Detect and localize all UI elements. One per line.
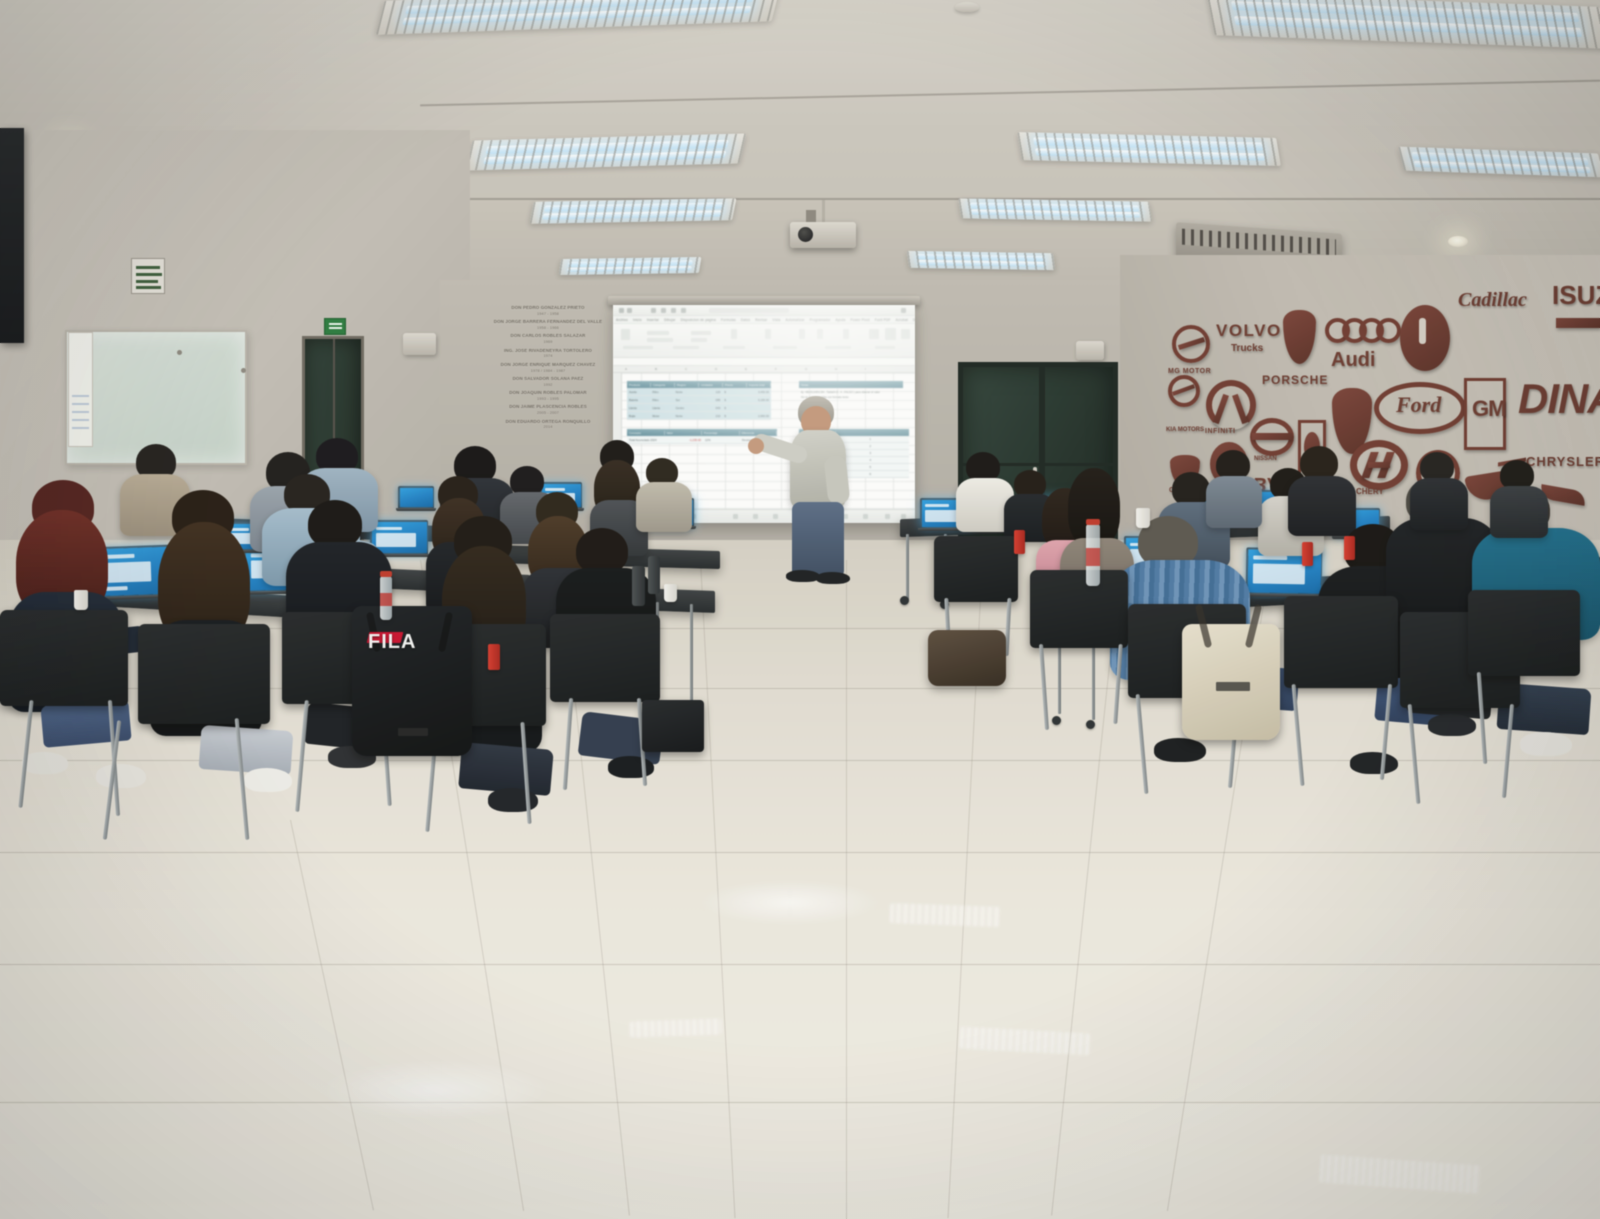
spreadsheet-titlebar — [613, 305, 915, 316]
bottle-cap — [1086, 519, 1100, 525]
cup — [664, 584, 677, 602]
logo-isuzu-bar — [1556, 318, 1600, 328]
column-header[interactable]: I — [865, 366, 866, 373]
table-cell-valor: -1,235.00 — [664, 438, 703, 442]
plaque-entry-years: 1993 - 1995 — [478, 397, 618, 403]
plaque-entry-years: 1969 — [478, 340, 618, 346]
floor-grout-line — [0, 1102, 1600, 1103]
soda-can — [1302, 542, 1313, 566]
ribbon-tab[interactable]: Foxit PDF — [875, 318, 891, 322]
floor-reflection — [320, 1060, 550, 1120]
table-cell-precio: $ — [722, 406, 745, 410]
table-cell-producto: Aceite — [627, 390, 650, 394]
column-header[interactable]: E — [745, 366, 747, 373]
ribbon-tab[interactable]: Insertar — [647, 318, 659, 322]
logo-mg-label: MG MOTOR — [1168, 368, 1211, 375]
table-cell-precio: $ — [722, 414, 745, 418]
table-column-header: Concepto — [627, 431, 665, 435]
table-cell-importe: 3,450.00 — [746, 390, 771, 394]
table-cell-precio: $ — [722, 398, 745, 402]
thermos — [632, 566, 645, 606]
plaque-entry-name: DON JORGE BARRERA FERNANDEZ DEL VALLE — [478, 319, 618, 326]
shoe — [1520, 732, 1572, 756]
column-header[interactable]: D — [715, 366, 717, 373]
logo-cadillac: Cadillac — [1458, 290, 1527, 310]
column-header[interactable]: G — [805, 366, 807, 373]
table-leg — [906, 534, 909, 600]
logo-infiniti-label: INFINITI — [1205, 428, 1235, 435]
table-cell-categoria: Motor — [650, 414, 673, 418]
logo-kia-label: KIA MOTORS — [1166, 427, 1204, 433]
briefcase — [642, 700, 704, 752]
bottle-label — [380, 593, 392, 606]
table-row[interactable]: LlantaLlantaCentro043$ — [627, 404, 771, 412]
chair[interactable] — [1468, 590, 1580, 676]
table-row[interactable]: BateriaFiltroSur085$5,180.00 — [627, 396, 771, 404]
shoe — [244, 768, 292, 792]
logo-dina: DINA — [1518, 378, 1600, 420]
column-header[interactable]: H — [835, 366, 837, 373]
shoe — [1350, 752, 1398, 774]
bottle-cap — [380, 571, 392, 577]
table-column-header: Precio — [723, 383, 747, 387]
plaque-entry-years: 1978 / 1984 - 1987 — [478, 369, 618, 375]
logo-isuzu: ISUZU — [1552, 282, 1600, 308]
table-cell-region: Centro — [674, 406, 697, 410]
table-cell-unidades: 120 — [697, 390, 722, 394]
wall-speaker — [403, 333, 436, 355]
formula-bar[interactable] — [613, 358, 915, 366]
shoe — [96, 764, 146, 788]
ribbon-tab[interactable]: Revisar — [755, 318, 767, 322]
laptop[interactable] — [398, 486, 434, 508]
wall-display-panel — [0, 128, 24, 343]
cup — [74, 590, 88, 610]
soda-can — [488, 644, 500, 670]
exit-sign — [324, 318, 346, 335]
table-cell-unidades: 043 — [697, 406, 722, 410]
logo-audi-label: Audi — [1331, 350, 1375, 370]
table-caster — [1086, 720, 1095, 729]
plaque-entry-name: DON SALVADOR SOLANA PAEZ — [478, 376, 618, 383]
table-caster — [1052, 716, 1061, 725]
table-cell-region: Norte — [674, 390, 697, 394]
table-column-header: Region — [675, 383, 699, 387]
plaque-entry-name: DON JORGE ENRIQUE MARQUEZ CHAVEZ — [478, 362, 618, 369]
ceiling-light-fixture — [559, 257, 702, 275]
note-panel-title: Notas — [799, 383, 903, 387]
plaque-entry-years: 1974 — [478, 354, 618, 360]
classroom-photo: DON PEDRO GONZALEZ PRIETO1947 - 1958DON … — [0, 0, 1600, 1219]
table-cell-unidades: 210 — [697, 414, 722, 418]
table-header-row: ConceptoValorPorcentajeDiferencia — [627, 429, 777, 436]
projection-screen-housing — [608, 296, 920, 305]
cup — [1136, 508, 1150, 528]
column-header[interactable]: F — [775, 366, 777, 373]
table-caster — [900, 596, 909, 605]
projector-lens — [798, 227, 813, 242]
leg — [199, 725, 294, 775]
chair[interactable] — [138, 624, 270, 724]
logo-chrysler: CHRYSLER — [1526, 455, 1600, 468]
table-cell-producto: Bujia — [627, 414, 650, 418]
water-bottle — [1086, 524, 1100, 586]
table-column-header: Producto — [627, 383, 651, 387]
ribbon-tab[interactable]: Power Pivot — [850, 318, 869, 322]
plaque-entry-years: 2005 - 2007 — [478, 411, 618, 417]
thermos — [648, 556, 660, 594]
smoke-detector — [955, 2, 979, 12]
table-cell-producto: Llanta — [627, 406, 650, 410]
column-header[interactable]: B — [655, 366, 657, 373]
table-column-header: Valor — [665, 431, 703, 435]
bag-on-floor — [928, 630, 1006, 686]
chair[interactable] — [0, 610, 128, 706]
logo-nissan — [1250, 418, 1294, 456]
table-column-header: Unidades — [699, 383, 723, 387]
instructor — [780, 396, 860, 576]
table-row[interactable]: BujiaMotorNorte210$2,960.00 — [627, 412, 771, 420]
memorial-plaque: DON PEDRO GONZALEZ PRIETO1947 - 1958DON … — [478, 305, 618, 485]
document-title-field — [709, 308, 789, 313]
table-cell-precio: $ — [722, 390, 745, 394]
ribbon-tab[interactable]: Ayuda — [835, 318, 845, 322]
chair[interactable] — [1284, 596, 1398, 688]
water-bottle — [380, 576, 392, 620]
fila-logo-text: FILA — [368, 631, 416, 654]
chair[interactable] — [934, 536, 1018, 602]
ceiling-projector — [790, 222, 856, 248]
note-panel: Notas — [799, 381, 903, 388]
hair — [1172, 472, 1210, 506]
logo-porsche: PORSCHE — [1262, 374, 1328, 386]
ribbon-tab[interactable]: Formulas — [721, 318, 736, 322]
plaque-entry-years: 1958 - 1966 — [478, 326, 618, 332]
torso — [1288, 476, 1356, 536]
ceiling-light-fixture — [907, 251, 1056, 270]
shoe — [1154, 738, 1206, 762]
ribbon-tab[interactable]: Datos — [741, 318, 750, 322]
ceiling-light-fixture — [1017, 132, 1281, 166]
logo-gm: GM — [1472, 398, 1505, 420]
table-cell-unidades: 085 — [697, 398, 722, 402]
ribbon-tab[interactable]: Dibujar — [664, 318, 676, 322]
hair — [308, 500, 362, 548]
instructor-legs — [792, 502, 844, 576]
note-panel-header: Notas — [799, 381, 903, 388]
column-header[interactable]: A — [625, 366, 627, 373]
instructor-arm-pocket — [824, 455, 851, 505]
floor-reflection — [700, 880, 880, 925]
table-cell-categoria: Llanta — [650, 406, 673, 410]
table-cell-concepto: Total Acumulado 2024 — [627, 438, 664, 442]
logo-peugeot-inner — [1419, 318, 1426, 344]
table-cell-porcentaje: 12% — [703, 438, 740, 442]
whiteboard-paper — [68, 332, 93, 447]
column-header[interactable]: C — [685, 366, 687, 373]
floor-light-reflection — [630, 1018, 723, 1037]
logo-nissan-label: NISSAN — [1254, 456, 1277, 462]
instructor-hand — [748, 438, 764, 454]
spreadsheet-table-main: ProductoCategoriaRegionUnidadesPrecioImp… — [627, 381, 771, 420]
table-column-header: Importe total — [747, 383, 771, 387]
chair[interactable] — [550, 614, 660, 702]
table-column-header: Porcentaje — [702, 431, 740, 435]
instructor-shoe — [816, 572, 850, 584]
ribbon-tab[interactable]: Diseño de tabla — [913, 318, 915, 322]
shoe — [1428, 714, 1476, 736]
torso — [1410, 478, 1468, 530]
bottle-label — [1086, 548, 1100, 567]
table-cell-importe: 2,960.00 — [746, 414, 771, 418]
ribbon-tab[interactable]: Inicio — [633, 318, 642, 322]
instructor-shoe — [786, 570, 820, 582]
soda-can — [1344, 536, 1355, 560]
recessed-downlight — [1448, 236, 1468, 247]
floor-light-reflection — [890, 903, 1001, 927]
ribbon-tab[interactable]: Vista — [772, 318, 780, 322]
ribbon-tab[interactable]: Automatizar — [785, 318, 804, 322]
ribbon-tab[interactable]: Disposicion de pagina — [681, 318, 716, 322]
backpack-fila — [352, 606, 472, 756]
table-cell-importe: 5,180.00 — [746, 398, 771, 402]
ribbon-tab[interactable]: Programador — [810, 318, 831, 322]
shoe — [22, 752, 68, 774]
ceiling-light-fixture — [958, 198, 1152, 221]
floor-grout-line — [0, 852, 1600, 853]
table-cell-categoria: Filtro — [650, 398, 673, 402]
soda-can — [1014, 530, 1025, 554]
logo-volvo-sub: Trucks — [1231, 344, 1263, 354]
table-cell-region: Sur — [674, 398, 697, 402]
table-cell-region: Norte — [674, 414, 697, 418]
logo-chery: CHERY — [1356, 488, 1384, 496]
plaque-entry-name: DON PEDRO GONZALEZ PRIETO — [478, 305, 618, 312]
backpack-cream — [1182, 624, 1280, 740]
plaque-entry-years: 1947 - 1958 — [478, 312, 618, 318]
wall-notice-sign — [131, 258, 165, 294]
ribbon-tab[interactable]: Acrobat — [896, 318, 908, 322]
floor-grout-line — [0, 964, 1600, 965]
table-column-header: Categoria — [651, 383, 675, 387]
ribbon-toolbar[interactable] — [613, 324, 915, 358]
hair — [1300, 446, 1338, 480]
plaque-entry-years: 1992 — [478, 383, 618, 389]
chair[interactable] — [1030, 570, 1128, 648]
logo-infiniti — [1206, 380, 1256, 426]
column-headers: ABCDEFGHI — [613, 366, 915, 373]
plaque-entry-years: 2014 — [478, 425, 618, 431]
table-row[interactable]: AceiteFiltroNorte120$3,450.00 — [627, 388, 771, 396]
torso — [1490, 486, 1548, 538]
ribbon-tab-strip[interactable]: ArchivoInicioInsertarDibujarDisposicion … — [613, 316, 915, 324]
table-cell-producto: Bateria — [627, 398, 650, 402]
logo-hyundai — [1350, 440, 1408, 490]
ribbon-tab[interactable]: Archivo — [616, 318, 628, 322]
table-header-row: ProductoCategoriaRegionUnidadesPrecioImp… — [627, 381, 771, 388]
torso — [1206, 476, 1262, 528]
table-cell-categoria: Filtro — [650, 390, 673, 394]
logo-volvo: VOLVO — [1216, 322, 1282, 339]
shoe — [608, 756, 654, 778]
wall-speaker — [1076, 341, 1104, 360]
torso — [636, 482, 692, 532]
ceiling-light-fixture — [529, 198, 736, 224]
logo-ford-label: Ford — [1396, 394, 1441, 416]
